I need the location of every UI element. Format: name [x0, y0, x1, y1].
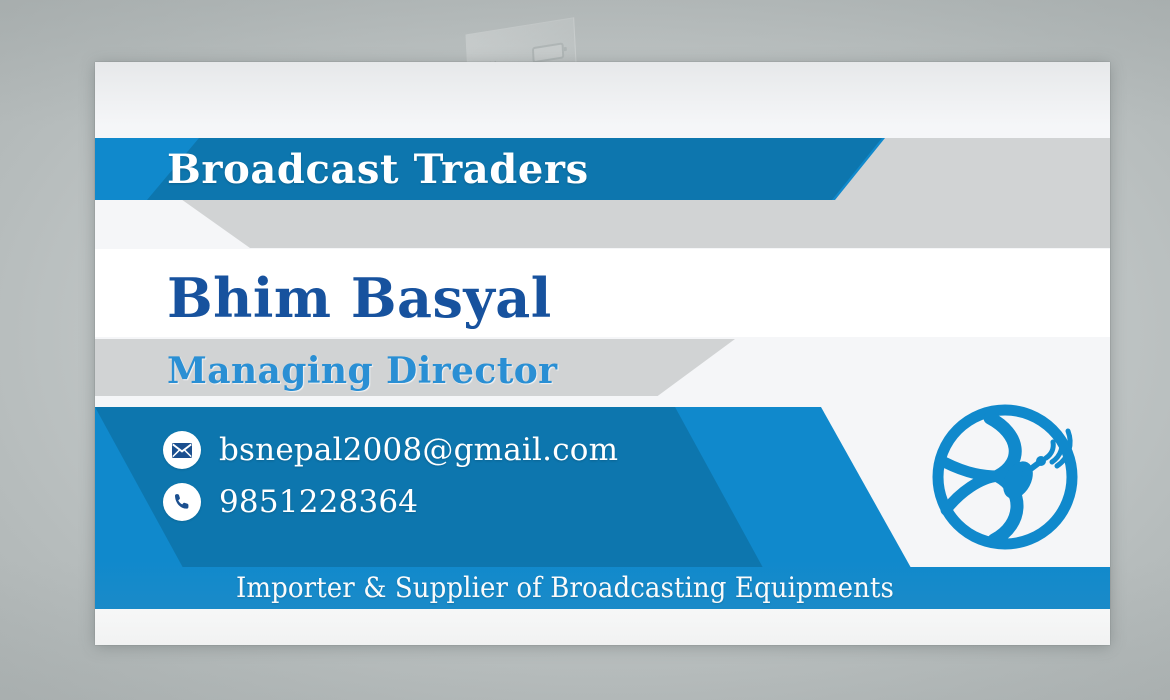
phone-value: 9851228364 — [219, 484, 418, 520]
person-title: Managing Director — [167, 350, 558, 392]
screenshot-canvas: 22% Broadcast Traders Bhim Basyal Managi… — [0, 0, 1170, 700]
company-name: Broadcast Traders — [167, 142, 589, 198]
battery-icon — [532, 42, 564, 63]
contact-row-phone[interactable]: 9851228364 — [163, 476, 618, 528]
broadcast-traders-logo — [928, 400, 1082, 554]
contact-list: bsnepal2008@gmail.com 9851228364 — [163, 424, 618, 528]
contact-row-email[interactable]: bsnepal2008@gmail.com — [163, 424, 618, 476]
phone-icon — [163, 483, 201, 521]
person-name: Bhim Basyal — [167, 266, 552, 330]
envelope-icon — [163, 431, 201, 469]
email-value: bsnepal2008@gmail.com — [219, 432, 618, 468]
tagline: Importer & Supplier of Broadcasting Equi… — [128, 567, 1002, 609]
business-card: Broadcast Traders Bhim Basyal Managing D… — [95, 62, 1110, 645]
